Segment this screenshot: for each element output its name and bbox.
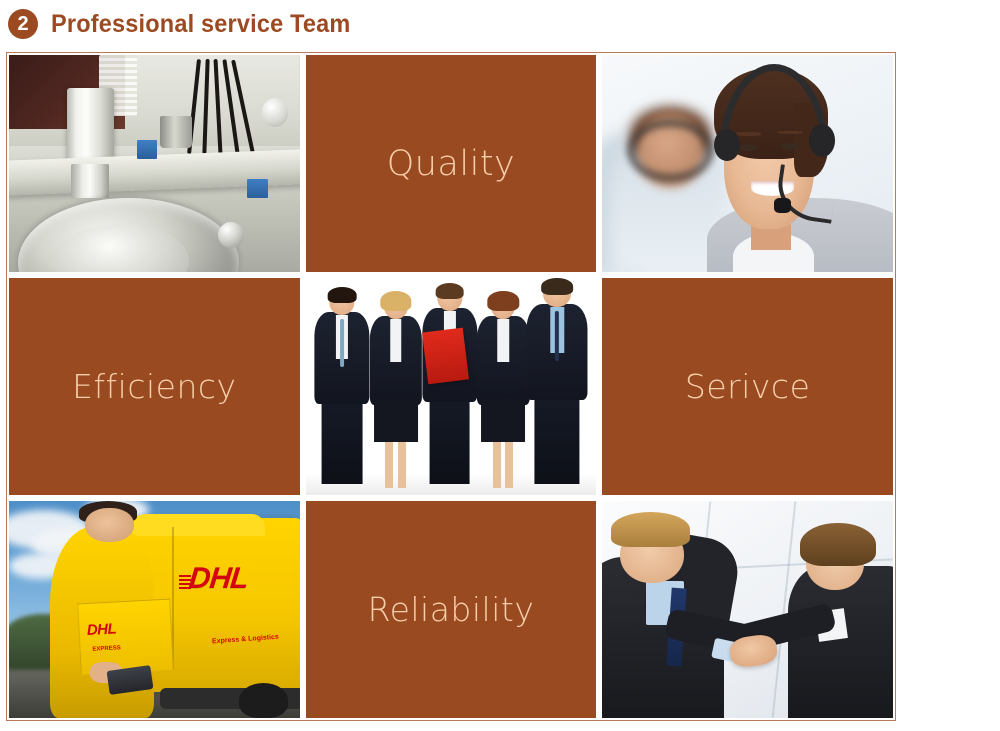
team-member-4-skirt	[481, 399, 525, 442]
team-member-1-hair	[328, 287, 357, 303]
quality-label: Quality	[387, 144, 516, 184]
dhl-delivery-photo: DHL Express & Logistics DHL EXPRESS	[9, 501, 300, 718]
reliability-label: Reliability	[368, 590, 535, 629]
call-center-agent-photo	[602, 55, 893, 272]
red-folder	[422, 328, 469, 385]
dhl-parcel: DHL EXPRESS	[77, 598, 174, 674]
dhl-van-wheel	[239, 683, 288, 718]
man-hair	[611, 512, 689, 547]
team-member-2-blouse	[390, 319, 402, 362]
team-member-4-blouse	[498, 319, 510, 362]
machine-metal-cup	[160, 116, 192, 149]
dhl-van-roof	[125, 514, 265, 536]
headset-earcup-right	[809, 124, 835, 157]
team-member-5-tie	[555, 311, 559, 361]
business-handshake-photo	[602, 501, 893, 718]
machine-wire-bundle	[189, 59, 265, 154]
woman-hair	[800, 523, 876, 566]
team-member-5-hair	[541, 278, 573, 295]
service-tile[interactable]: Serivce	[602, 278, 893, 495]
machine-sensor-blue-2	[247, 179, 267, 199]
service-label: Serivce	[685, 367, 810, 406]
dhl-van-logo: DHL	[187, 562, 249, 596]
team-member-3-trousers	[429, 399, 470, 485]
team-member-4	[477, 293, 529, 488]
dhl-parcel-sublabel: EXPRESS	[92, 645, 121, 652]
team-member-4-hair	[488, 291, 519, 311]
grid-frame: Quality	[6, 52, 896, 721]
machine-sensor-blue-1	[137, 140, 157, 160]
team-member-5-trousers	[535, 397, 580, 484]
team-member-1-tie	[340, 319, 344, 367]
precision-machinery-photo	[9, 55, 300, 272]
team-member-3	[422, 285, 477, 489]
machine-white-disc	[262, 98, 288, 126]
team-member-1	[314, 289, 369, 489]
service-grid: Quality	[9, 55, 893, 718]
section-header: 2 Professional service Team	[0, 0, 1000, 48]
business-team-photo	[306, 278, 597, 495]
page-title: Professional service Team	[51, 10, 350, 39]
team-member-3-hair	[435, 283, 464, 299]
efficiency-label: Efficiency	[72, 367, 236, 406]
team-member-5	[527, 280, 588, 488]
machine-spindle	[71, 164, 109, 199]
quality-tile[interactable]: Quality	[306, 55, 597, 272]
efficiency-tile[interactable]: Efficiency	[9, 278, 300, 495]
team-member-2	[370, 293, 422, 488]
background-colleague-headset	[628, 120, 712, 181]
section-number-badge: 2	[8, 9, 38, 39]
team-member-2-skirt	[374, 399, 418, 442]
headset-microphone	[774, 198, 791, 213]
courier-head	[85, 508, 134, 543]
reliability-tile[interactable]: Reliability	[306, 501, 597, 718]
team-member-2-hair	[380, 291, 411, 311]
dhl-parcel-logo: DHL	[86, 620, 116, 639]
service-team-banner: 2 Professional service Team	[0, 0, 1000, 731]
team-member-1-trousers	[322, 401, 363, 485]
